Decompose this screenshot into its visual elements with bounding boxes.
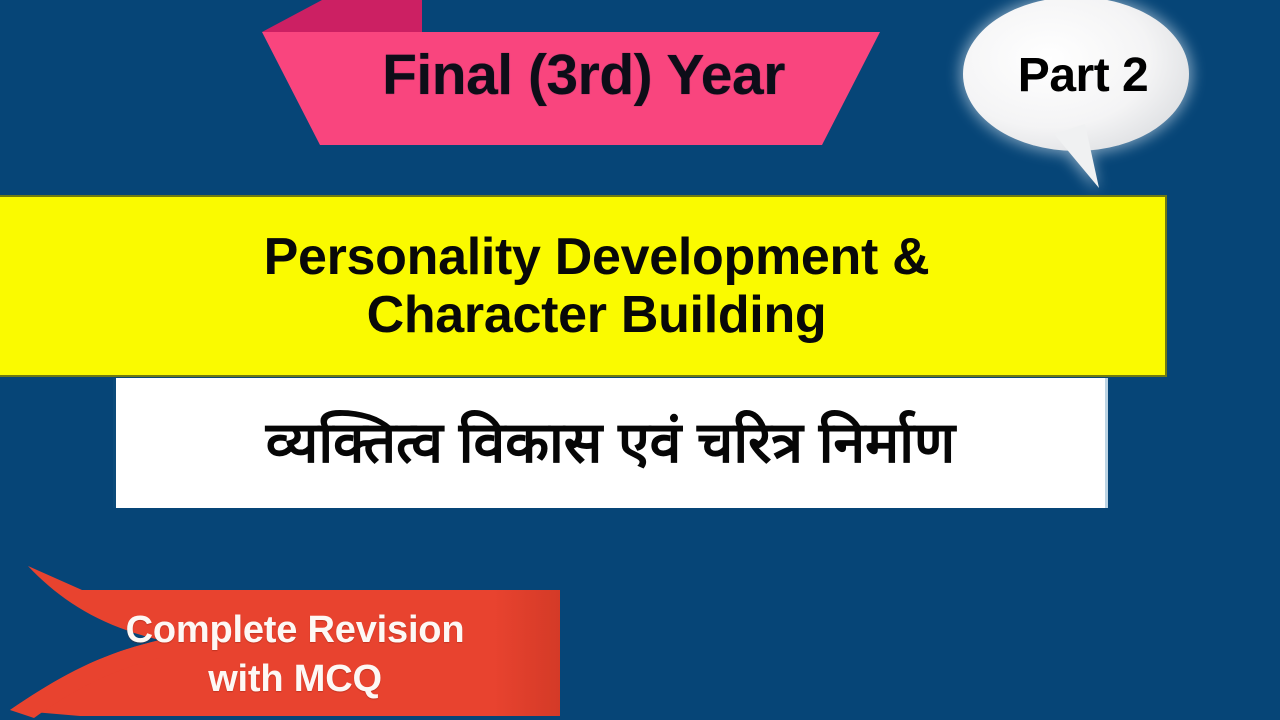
course-title-banner: Personality Development & Character Buil… <box>0 195 1167 377</box>
hindi-title-text: व्यक्तित्व विकास एवं चरित्र निर्माण <box>266 415 955 472</box>
course-title-line-2: Character Building <box>367 286 827 344</box>
hindi-title-banner: व्यक्तित्व विकास एवं चरित्र निर्माण <box>113 378 1108 508</box>
revision-line-2: with MCQ <box>60 655 530 704</box>
revision-text-block: Complete Revision with MCQ <box>60 606 530 703</box>
revision-ribbon: Complete Revision with MCQ <box>0 558 570 720</box>
part-badge: Part 2 <box>958 0 1208 196</box>
revision-line-1: Complete Revision <box>126 609 465 651</box>
part-label: Part 2 <box>958 0 1208 150</box>
course-title-line-1: Personality Development & <box>264 228 930 286</box>
thumbnail-canvas: Final (3rd) Year Part 2 Personality Deve… <box>0 0 1280 720</box>
final-year-ribbon: Final (3rd) Year <box>262 0 887 150</box>
final-year-label: Final (3rd) Year <box>262 0 887 150</box>
